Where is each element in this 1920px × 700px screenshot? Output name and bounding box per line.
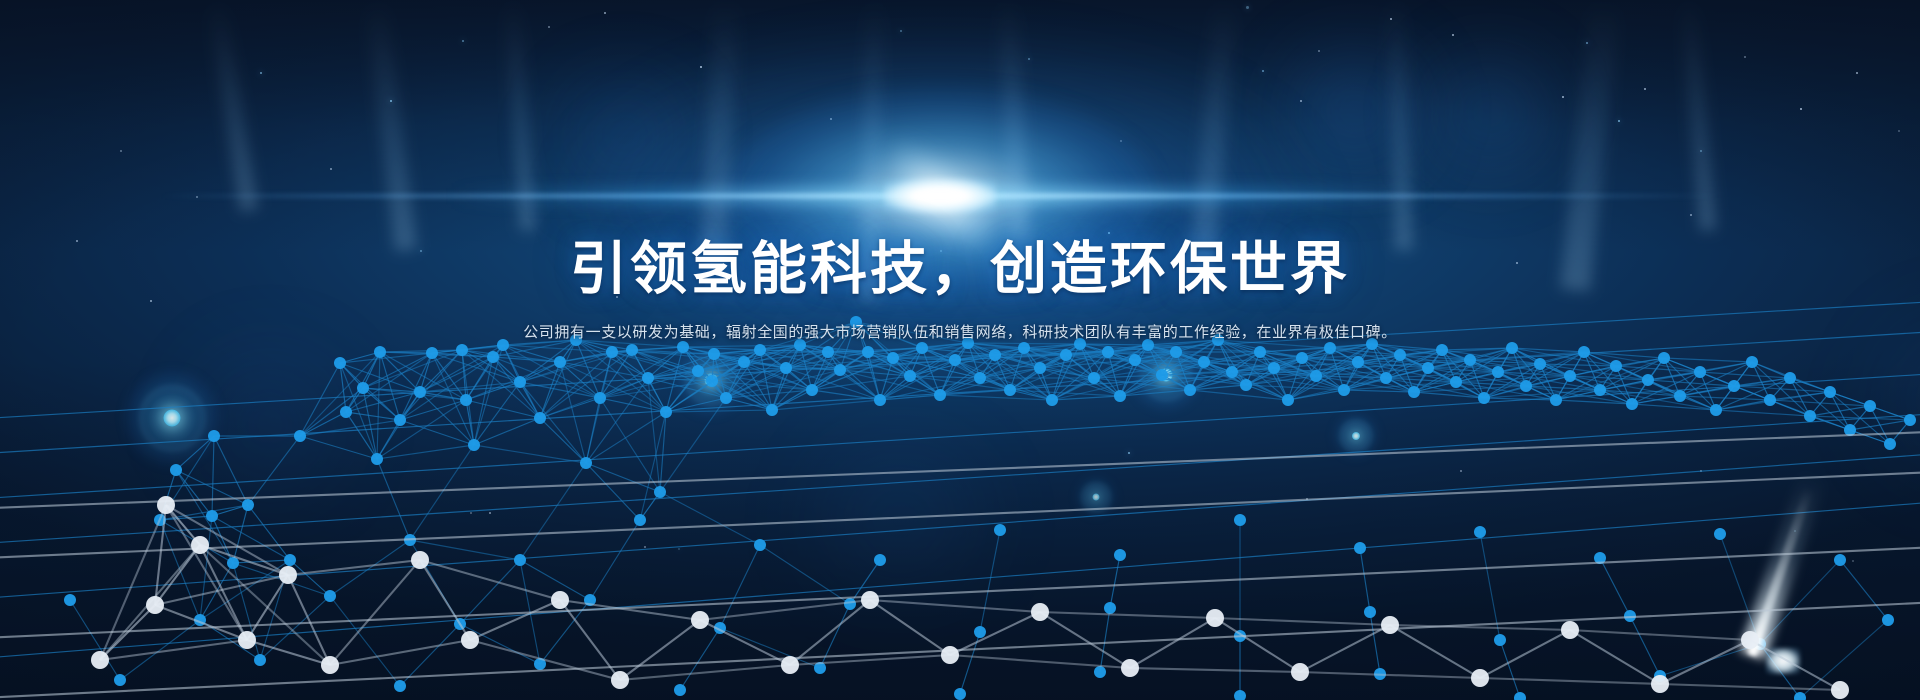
page-title: 引领氢能科技，创造环保世界 bbox=[0, 240, 1920, 299]
page-subtitle: 公司拥有一支以研发为基础，辐射全国的强大市场营销队伍和销售网络，科研技术团队有丰… bbox=[0, 321, 1920, 344]
background-bottom-shade bbox=[0, 360, 1920, 700]
hero-text-block: 引领氢能科技，创造环保世界 公司拥有一支以研发为基础，辐射全国的强大市场营销队伍… bbox=[0, 240, 1920, 344]
hero-banner: 引领氢能科技，创造环保世界 公司拥有一支以研发为基础，辐射全国的强大市场营销队伍… bbox=[0, 0, 1920, 700]
